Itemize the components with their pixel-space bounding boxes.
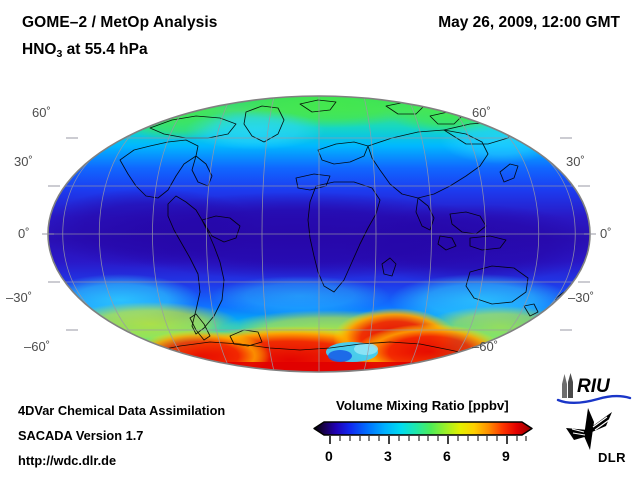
lat-label-right-60: 60˚: [472, 105, 491, 120]
dlr-wordmark: DLR: [598, 450, 626, 465]
colorbar-title: Volume Mixing Ratio [ppbv]: [336, 398, 509, 413]
lat-label-left-60: 60˚: [32, 105, 51, 120]
riu-cathedral-icon: [562, 374, 567, 398]
colorbar-tick-9: 9: [502, 448, 510, 464]
footer-line-method: 4DVar Chemical Data Assimilation: [18, 403, 225, 418]
lat-label-right-0: 0˚: [600, 226, 612, 241]
colorbar-tick-3: 3: [384, 448, 392, 464]
footer-line-version: SACADA Version 1.7: [18, 428, 143, 443]
colorbar-gradient: [314, 422, 532, 435]
lat-label-left-m60: –60˚: [24, 339, 50, 354]
visualization-page: GOME–2 / MetOp Analysis HNO3 at 55.4 hPa…: [0, 0, 640, 480]
riu-wordmark: RIU: [577, 376, 611, 397]
data-field: [40, 80, 600, 394]
colorbar: [313, 421, 533, 449]
colorbar-minor-ticks: [340, 436, 526, 441]
riu-logo: RIU: [556, 372, 632, 406]
lat-label-right-30: 30˚: [566, 154, 585, 169]
graticule: [48, 96, 590, 372]
lat-label-right-m60: –60˚: [472, 339, 498, 354]
footer-line-url[interactable]: http://wdc.dlr.de: [18, 453, 116, 468]
riu-cathedral-icon-2: [568, 373, 573, 398]
lat-label-left-0: 0˚: [18, 226, 30, 241]
colorbar-tick-6: 6: [443, 448, 451, 464]
dlr-emblem-icon: [566, 408, 612, 450]
lat-label-left-30: 30˚: [14, 154, 33, 169]
dlr-logo: [562, 408, 616, 452]
lat-label-left-m30: –30˚: [6, 290, 32, 305]
lat-label-right-m30: –30˚: [568, 290, 594, 305]
colorbar-tick-0: 0: [325, 448, 333, 464]
